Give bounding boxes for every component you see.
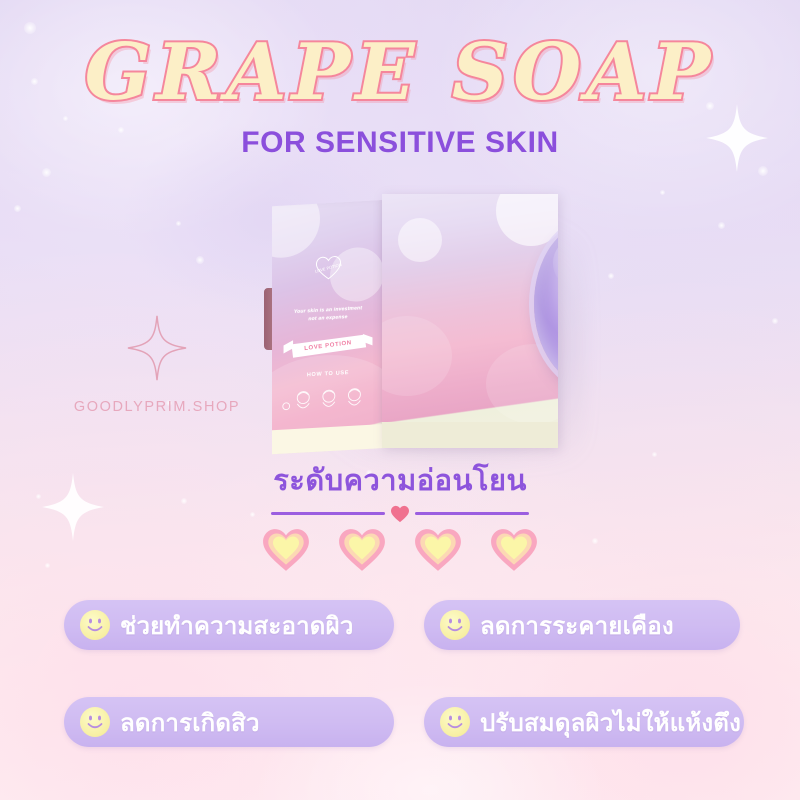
- divider-line-right: [415, 512, 529, 515]
- title-block: GRAPE SOAP FOR SENSITIVE SKIN: [0, 34, 800, 160]
- gentleness-rating: ระดับความอ่อนโยน: [0, 466, 800, 578]
- benefit-pill[interactable]: ปรับสมดุลผิวไม่ให้แห้งตึง: [424, 697, 744, 747]
- rating-divider: [271, 507, 529, 521]
- bokeh-dot: [608, 273, 614, 279]
- decor-dot: [496, 194, 558, 246]
- package-right-panel: [382, 194, 558, 448]
- smiley-face-icon: [80, 707, 110, 737]
- smiley-face-icon: [440, 707, 470, 737]
- bokeh-dot: [14, 205, 21, 212]
- bokeh-dot: [718, 222, 725, 229]
- decor-dot: [272, 200, 320, 260]
- bokeh-dot: [660, 190, 665, 195]
- benefit-label: ลดการระคายเคือง: [480, 606, 674, 645]
- bokeh-dot: [652, 452, 657, 457]
- benefit-label: ปรับสมดุลผิวไม่ให้แห้งตึง: [480, 703, 741, 742]
- divider-line-left: [271, 512, 385, 515]
- bokeh-dot: [42, 168, 51, 177]
- smiley-face-icon: [440, 610, 470, 640]
- rating-title: ระดับความอ่อนโยน: [0, 466, 800, 498]
- package-left-panel: LOVE POTION Your skin is an investment n…: [272, 200, 384, 454]
- page-subtitle: FOR SENSITIVE SKIN: [0, 126, 800, 160]
- rating-heart-icon: [337, 527, 387, 578]
- brand-mark: GOODLYPRIM.SHOP: [62, 314, 252, 415]
- rating-heart-icon: [413, 527, 463, 578]
- decor-dot: [398, 218, 442, 262]
- heart-logo-text: LOVE POTION: [315, 262, 342, 274]
- brand-name: GOODLYPRIM.SHOP: [62, 399, 252, 415]
- how-to-use-steps: [272, 382, 384, 422]
- benefit-label: ช่วยทำความสะอาดผิว: [120, 606, 354, 645]
- rating-heart-icon: [261, 527, 311, 578]
- rating-heart-icon: [489, 527, 539, 578]
- bokeh-dot: [772, 318, 778, 324]
- product-image: LOVE POTION Your skin is an investment n…: [262, 188, 562, 460]
- sparkle-star-icon: [126, 314, 188, 387]
- bokeh-dot: [24, 22, 36, 34]
- benefit-pill[interactable]: ช่วยทำความสะอาดผิว: [64, 600, 394, 650]
- package-bottom-band: [382, 422, 558, 448]
- background-haze: [0, 560, 360, 800]
- page-title: GRAPE SOAP: [0, 34, 800, 112]
- rating-heart-row: [0, 527, 800, 578]
- bokeh-dot: [758, 166, 768, 176]
- bokeh-dot: [196, 256, 204, 264]
- poster-canvas: GRAPE SOAP FOR SENSITIVE SKIN GOODLYPRIM…: [0, 0, 800, 800]
- divider-heart-icon: [390, 505, 410, 528]
- love-potion-heart-logo: LOVE POTION: [272, 252, 384, 288]
- package-tagline: Your skin is an investment not an expens…: [272, 304, 384, 326]
- bokeh-dot: [176, 221, 181, 226]
- soap-highlight: [553, 235, 558, 291]
- benefit-pill[interactable]: ลดการเกิดสิว: [64, 697, 394, 747]
- decor-dot: [382, 316, 452, 396]
- benefit-pill[interactable]: ลดการระคายเคือง: [424, 600, 740, 650]
- benefit-label: ลดการเกิดสิว: [120, 703, 260, 742]
- smiley-face-icon: [80, 610, 110, 640]
